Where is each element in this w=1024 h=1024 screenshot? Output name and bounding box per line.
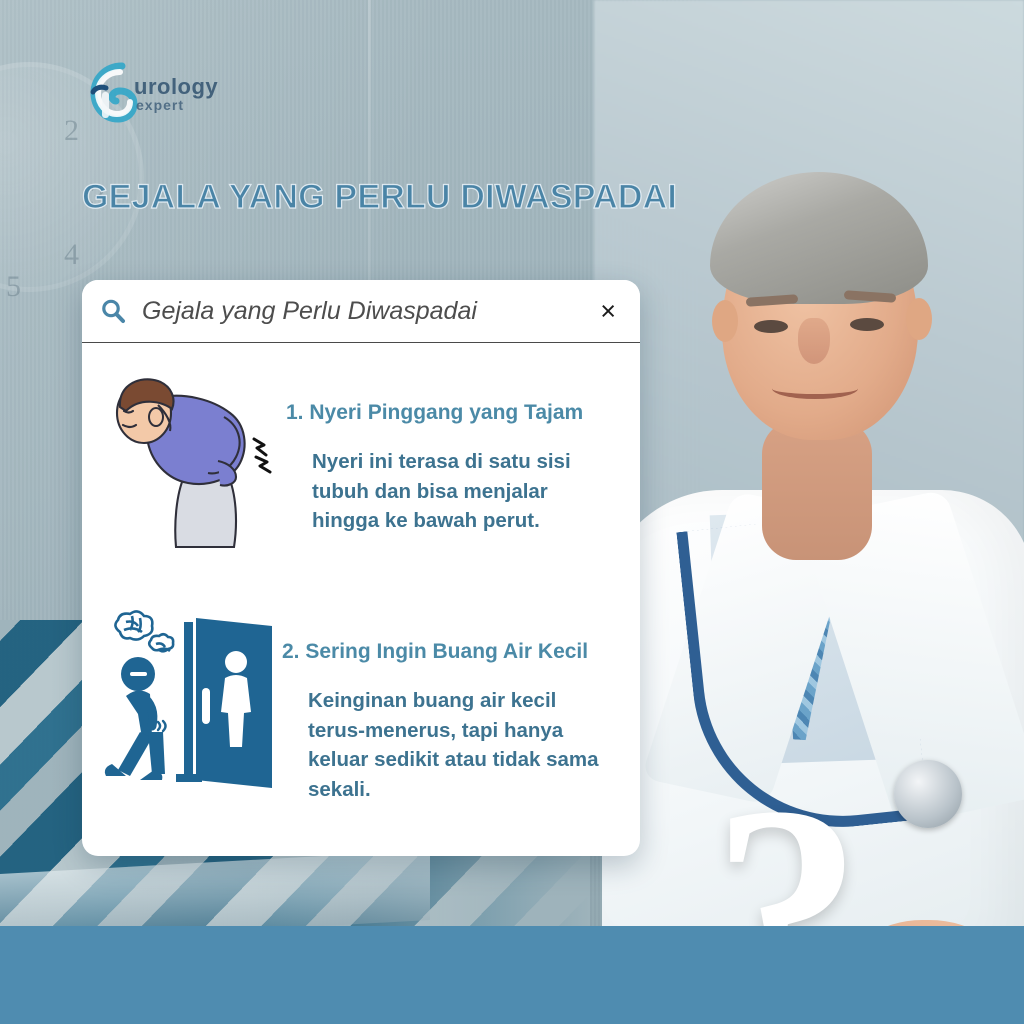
search-bar[interactable]: Gejala yang Perlu Diwaspadai × <box>82 280 640 343</box>
man-walking-to-restroom-illustration <box>96 604 282 796</box>
doctor-hair <box>710 172 928 304</box>
doctor-ear-right <box>906 298 932 340</box>
symptom-description: Keinginan buang air kecil terus-menerus,… <box>308 686 608 805</box>
man-back-pain-illustration <box>96 365 286 550</box>
clock-number: 2 <box>64 114 79 148</box>
doctor-eye-right <box>850 318 884 331</box>
bottom-color-bar <box>0 926 1024 1024</box>
page-title: GEJALA YANG PERLU DIWASPADAI <box>82 178 677 217</box>
doctor-mouth <box>772 378 858 399</box>
doctor-portrait-photo: ? <box>594 120 1024 930</box>
symptom-text-block: 2. Sering Ingin Buang Air Kecil Keingina… <box>282 604 622 805</box>
search-icon <box>100 298 126 324</box>
stethoscope-bell <box>894 760 962 828</box>
brand-tagline: expert <box>136 97 218 113</box>
list-item: 1. Nyeri Pinggang yang Tajam Nyeri ini t… <box>82 365 640 550</box>
symptom-title: 2. Sering Ingin Buang Air Kecil <box>282 640 622 664</box>
search-result-card: Gejala yang Perlu Diwaspadai × <box>82 280 640 856</box>
poster-canvas: 2 3 4 5 ? <box>0 0 1024 1024</box>
kidney-logo-icon <box>82 62 142 124</box>
close-icon[interactable]: × <box>596 296 620 327</box>
clock-number: 5 <box>6 270 21 304</box>
brand-logo-text: urology expert <box>134 74 218 113</box>
clock-number: 4 <box>64 238 79 272</box>
doctor-nose <box>798 318 830 364</box>
doctor-eye-left <box>754 320 788 333</box>
symptom-title: 1. Nyeri Pinggang yang Tajam <box>286 401 622 425</box>
symptom-description: Nyeri ini terasa di satu sisi tubuh dan … <box>312 447 612 536</box>
symptom-text-block: 1. Nyeri Pinggang yang Tajam Nyeri ini t… <box>286 365 622 536</box>
search-input[interactable]: Gejala yang Perlu Diwaspadai <box>142 297 596 326</box>
list-item: 2. Sering Ingin Buang Air Kecil Keingina… <box>82 604 640 805</box>
brand-logo: urology expert <box>82 62 282 124</box>
card-body: 1. Nyeri Pinggang yang Tajam Nyeri ini t… <box>82 343 640 805</box>
doctor-ear-left <box>712 300 738 342</box>
